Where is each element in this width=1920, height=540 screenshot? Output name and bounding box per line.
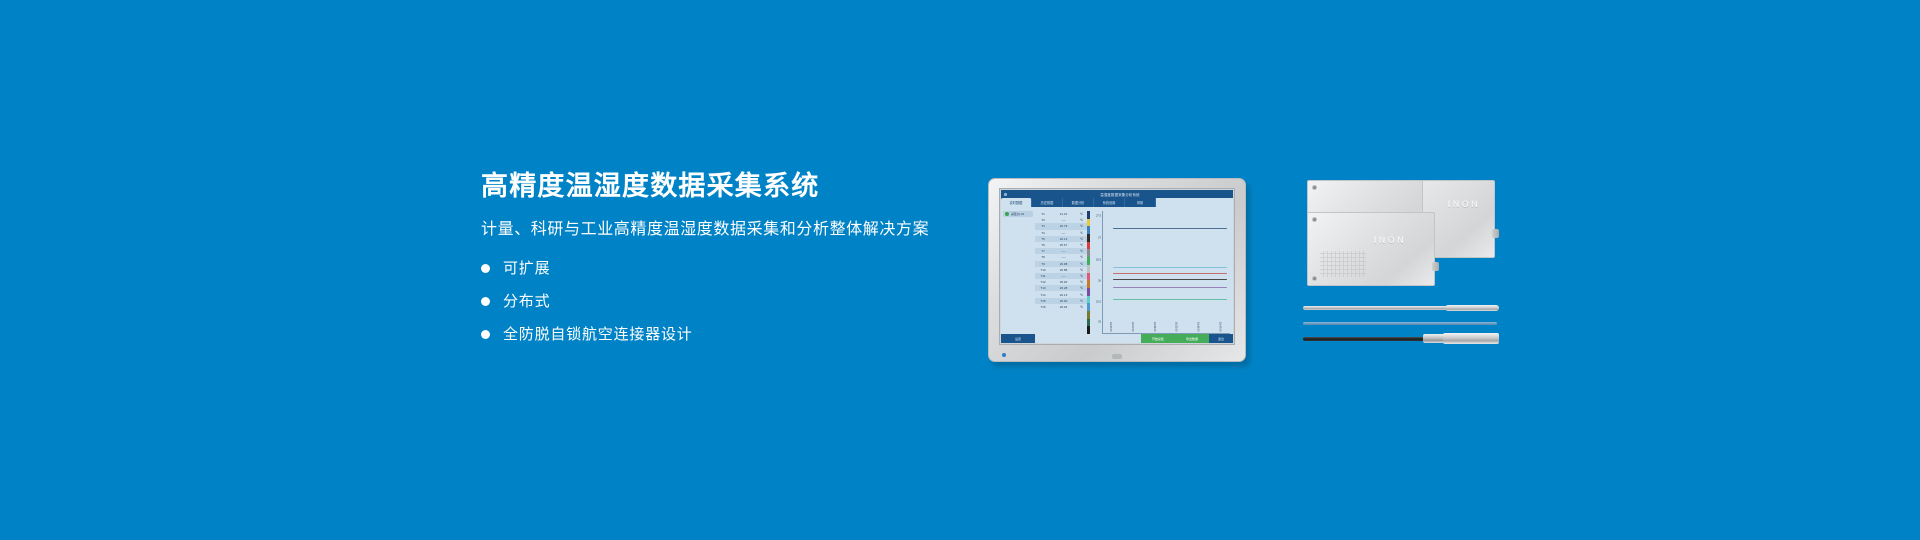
x-tick-label: 16:36:00 — [1196, 322, 1198, 334]
channel-unit: ℃ — [1077, 293, 1086, 297]
tab-system-settings[interactable]: 系统设置 — [1094, 198, 1125, 207]
settings-button[interactable]: 设置 — [1001, 334, 1035, 343]
power-led-indicator — [1002, 353, 1006, 357]
channel-name: T15 — [1036, 299, 1050, 303]
tab-bar-filler — [1156, 198, 1233, 207]
channel-unit: ℃ — [1077, 237, 1086, 241]
channel-unit: ℃ — [1077, 305, 1086, 309]
x-tick-label: 16:32:00 — [1174, 322, 1176, 334]
y-tick-label: 27 — [1098, 237, 1101, 240]
feature-label: 分布式 — [503, 294, 550, 309]
sidebar-item-device[interactable]: 采集仪-01 — [1003, 211, 1033, 217]
tab-label: 历史数据 — [1041, 200, 1054, 205]
footer-spacer — [1035, 334, 1141, 343]
industrial-panel-monitor: 温湿度数据采集分析系统 实时数据 历史数据 数据分析 系统设 — [988, 178, 1246, 362]
channel-value: 26.94 — [1050, 305, 1077, 309]
chart-x-axis: 16:20:00 16:24:00 16:28:00 16:32:00 16:3… — [1099, 322, 1230, 334]
series-line-t1 — [1113, 228, 1227, 229]
channel-value: 26.28 — [1050, 286, 1077, 290]
button-label: 退出 — [1218, 337, 1224, 341]
y-tick-label: 25.5 — [1096, 301, 1101, 304]
tab-data-analysis[interactable]: 数据分析 — [1063, 198, 1094, 207]
brand-logo-text: INON — [1448, 199, 1480, 209]
button-label: 设置 — [1015, 337, 1021, 341]
channel-unit: ℃ — [1077, 280, 1086, 284]
channel-value: 26.98 — [1050, 262, 1077, 266]
chart-y-axis: 27.5 27 26.5 26 25.5 25 — [1093, 211, 1103, 334]
channel-value-table: T1 21.01 ℃ T2 ---- ℃ T3 26.7 — [1035, 207, 1087, 334]
bullet-dot-icon — [481, 330, 490, 339]
chart-plot-area — [1103, 211, 1230, 334]
hardware-product-group: INON INON — [1303, 176, 1503, 361]
app-titlebar: 温湿度数据采集分析系统 — [1001, 190, 1233, 198]
series-line-t12 — [1113, 299, 1227, 300]
channel-value: ---- — [1050, 231, 1077, 235]
y-tick-label: 26 — [1098, 280, 1101, 283]
probe-sensor-body — [1443, 333, 1499, 344]
probe-cable — [1303, 337, 1429, 341]
series-line-t5 — [1113, 273, 1227, 274]
channel-unit: ℃ — [1077, 218, 1086, 222]
device-tree-sidebar: 采集仪-01 — [1001, 207, 1035, 334]
screw-icon — [1312, 276, 1317, 281]
feature-label: 可扩展 — [503, 261, 550, 276]
start-acquisition-button[interactable]: 开始采集 — [1141, 334, 1175, 343]
connector-port-icon — [1492, 229, 1499, 238]
channel-name: T1 — [1036, 212, 1050, 216]
menu-icon[interactable] — [1004, 193, 1007, 196]
channel-unit: ℃ — [1077, 249, 1086, 253]
brand-logo-text: INON — [1374, 235, 1406, 245]
y-tick-label: 27.5 — [1096, 214, 1101, 217]
app-tab-bar: 实时数据 历史数据 数据分析 系统设置 帮助 — [1001, 198, 1233, 207]
x-tick-label: 16:28:00 — [1152, 322, 1154, 334]
tab-history-data[interactable]: 历史数据 — [1032, 198, 1063, 207]
exit-button[interactable]: 退出 — [1209, 334, 1233, 343]
channel-name: T12 — [1036, 280, 1050, 284]
channel-name: T16 — [1036, 305, 1050, 309]
button-label: 开始采集 — [1152, 337, 1164, 341]
acquisition-module-front: INON — [1307, 212, 1435, 286]
stainless-steel-temperature-probe — [1303, 306, 1499, 310]
probe-ferrule — [1423, 334, 1445, 343]
channel-name: T14 — [1036, 293, 1050, 297]
channel-name: T2 — [1036, 218, 1050, 222]
daq-software-window: 温湿度数据采集分析系统 实时数据 历史数据 数据分析 系统设 — [1001, 190, 1233, 343]
tab-help[interactable]: 帮助 — [1125, 198, 1156, 207]
blue-sheath-sensor-cable — [1303, 322, 1497, 325]
table-row[interactable]: T16 26.94 ℃ — [1035, 304, 1087, 310]
button-label: 导出数据 — [1186, 337, 1198, 341]
app-window-title: 温湿度数据采集分析系统 — [1010, 192, 1230, 197]
channel-name: T11 — [1036, 274, 1050, 278]
tab-label: 系统设置 — [1103, 200, 1116, 205]
channel-name: T5 — [1036, 237, 1050, 241]
channel-value: ---- — [1050, 255, 1077, 259]
series-line-t9 — [1113, 287, 1227, 288]
x-tick-label: 16:24:00 — [1131, 322, 1133, 334]
channel-value: ---- — [1050, 249, 1077, 253]
channel-unit: ℃ — [1077, 224, 1086, 228]
x-tick-label: 16:40:00 — [1218, 322, 1220, 334]
channel-name: T4 — [1036, 231, 1050, 235]
tab-label: 数据分析 — [1072, 200, 1085, 205]
device-label: 采集仪-01 — [1011, 212, 1024, 216]
tab-label: 帮助 — [1137, 200, 1143, 205]
screw-icon — [1312, 185, 1317, 190]
feature-label: 全防脱自锁航空连接器设计 — [503, 327, 693, 342]
series-line-t3 — [1113, 267, 1227, 268]
channel-name: T6 — [1036, 243, 1050, 247]
channel-value: 26.88 — [1050, 268, 1077, 272]
channel-unit: ℃ — [1077, 286, 1086, 290]
export-data-button[interactable]: 导出数据 — [1175, 334, 1209, 343]
x-tick-label: 16:20:00 — [1109, 322, 1111, 334]
screw-icon — [1312, 217, 1317, 222]
channel-name: T3 — [1036, 224, 1050, 228]
app-footer-toolbar: 设置 开始采集 导出数据 退出 — [1001, 334, 1233, 343]
monitor-screen: 温湿度数据采集分析系统 实时数据 历史数据 数据分析 系统设 — [999, 188, 1235, 345]
y-tick-label: 26.5 — [1096, 259, 1101, 262]
black-cable-humidity-probe — [1303, 336, 1499, 341]
channel-unit: ℃ — [1077, 231, 1086, 235]
series-line-t6 — [1113, 279, 1227, 280]
channel-value: 26.90 — [1050, 299, 1077, 303]
probe-tip — [1445, 305, 1499, 311]
tab-label: 实时数据 — [1010, 200, 1023, 205]
channel-name: T10 — [1036, 268, 1050, 272]
realtime-trend-chart: 27.5 27 26.5 26 25.5 25 — [1090, 207, 1233, 334]
monitor-bezel: 温湿度数据采集分析系统 实时数据 历史数据 数据分析 系统设 — [988, 178, 1246, 362]
channel-unit: ℃ — [1077, 274, 1086, 278]
channel-unit: ℃ — [1077, 255, 1086, 259]
product-banner: 高精度温湿度数据采集系统 计量、科研与工业高精度温湿度数据采集和分析整体解决方案… — [0, 0, 1920, 540]
channel-value: 26.13 — [1050, 237, 1077, 241]
channel-name: T7 — [1036, 249, 1050, 253]
feature-item-connector: 全防脱自锁航空连接器设计 — [481, 327, 951, 342]
channel-value: ---- — [1050, 218, 1077, 222]
device-online-icon — [1005, 212, 1009, 216]
channel-unit: ℃ — [1077, 262, 1086, 266]
bullet-dot-icon — [481, 297, 490, 306]
channel-unit: ℃ — [1077, 299, 1086, 303]
channel-value: 26.79 — [1050, 224, 1077, 228]
channel-value: ---- — [1050, 274, 1077, 278]
bullet-dot-icon — [481, 264, 490, 273]
banner-copy-block: 高精度温湿度数据采集系统 计量、科研与工业高精度温湿度数据采集和分析整体解决方案… — [481, 170, 951, 342]
feature-item-expandable: 可扩展 — [481, 261, 951, 276]
channel-value: 21.01 — [1050, 212, 1077, 216]
page-title: 高精度温湿度数据采集系统 — [481, 170, 951, 202]
page-subtitle: 计量、科研与工业高精度温湿度数据采集和分析整体解决方案 — [481, 220, 951, 241]
feature-item-distributed: 分布式 — [481, 294, 951, 309]
channel-unit: ℃ — [1077, 212, 1086, 216]
channel-value: 26.13 — [1050, 293, 1077, 297]
channel-name: T8 — [1036, 255, 1050, 259]
channel-unit: ℃ — [1077, 268, 1086, 272]
channel-name: T9 — [1036, 262, 1050, 266]
connector-port-icon — [1432, 262, 1439, 271]
channel-value: 25.67 — [1050, 243, 1077, 247]
monitor-stand-foot — [1112, 354, 1122, 359]
tab-realtime-data[interactable]: 实时数据 — [1001, 198, 1032, 207]
terminal-block-grid-icon — [1320, 251, 1366, 277]
channel-name: T13 — [1036, 286, 1050, 290]
channel-unit: ℃ — [1077, 243, 1086, 247]
feature-list: 可扩展 分布式 全防脱自锁航空连接器设计 — [481, 261, 951, 342]
app-body: 采集仪-01 T1 21.01 ℃ T2 ---- — [1001, 207, 1233, 334]
channel-value: 25.90 — [1050, 280, 1077, 284]
